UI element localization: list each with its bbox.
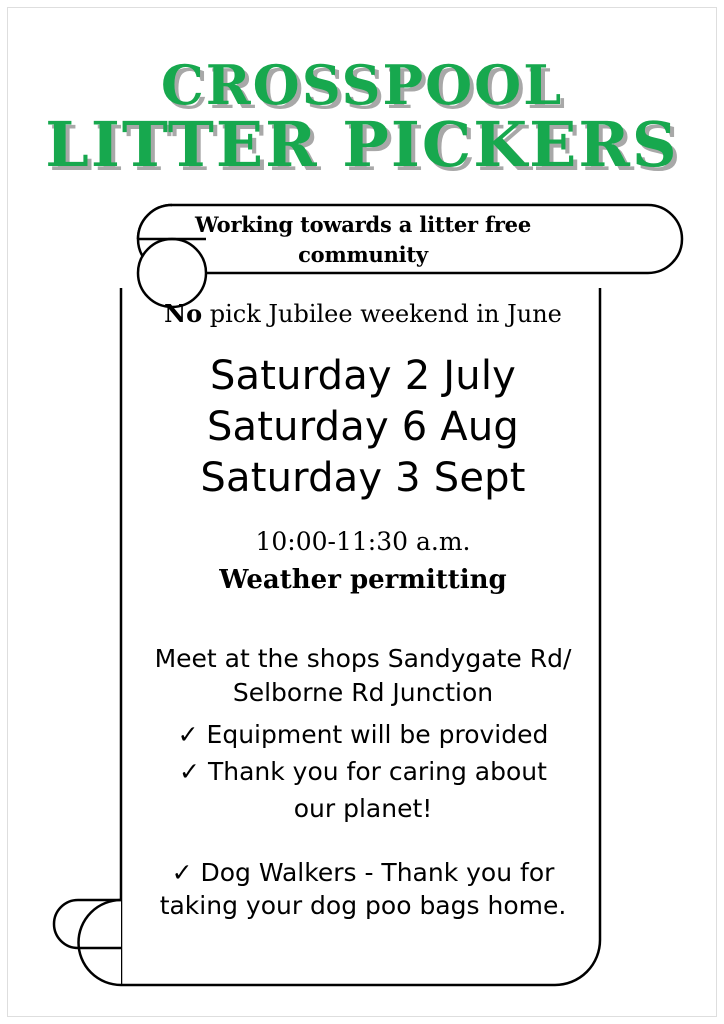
banner-text: Working towards a litter free community — [128, 210, 598, 270]
jubilee-notice: No pick Jubilee weekend in June — [128, 300, 598, 329]
jubilee-notice-rest: pick Jubilee weekend in June — [202, 300, 562, 328]
date-item: Saturday 6 Aug — [128, 402, 598, 453]
bullet-item-text: Equipment will be provided — [207, 720, 549, 749]
scroll-body-text: No pick Jubilee weekend in June Saturday… — [128, 300, 598, 922]
meeting-point-line-2: Selborne Rd Junction — [128, 676, 598, 710]
poster-title: CROSSPOOL LITTER PICKERS — [0, 58, 724, 176]
dog-walkers-line-2: taking your dog poo bags home. — [128, 890, 598, 923]
scroll-content: Working towards a litter free community … — [128, 200, 598, 990]
date-list: Saturday 2 July Saturday 6 Aug Saturday … — [128, 351, 598, 505]
banner-line-1: Working towards a litter free — [128, 210, 598, 240]
dog-walkers-text: Dog Walkers - Thank you for — [201, 858, 555, 887]
check-icon: ✓ — [178, 720, 199, 749]
weather-note: Weather permitting — [128, 564, 598, 597]
scroll-bottom-curl-outer — [79, 900, 121, 985]
date-item: Saturday 3 Sept — [128, 453, 598, 504]
meeting-point: Meet at the shops Sandygate Rd/ Selborne… — [128, 642, 598, 710]
bullet-list: ✓ Equipment will be provided ✓ Thank you… — [128, 716, 598, 827]
check-icon: ✓ — [172, 858, 193, 887]
bullet-item-text: Thank you for caring about — [208, 757, 547, 786]
jubilee-notice-bold: No — [164, 299, 202, 328]
bullet-item-continuation: our planet! — [128, 790, 598, 827]
poster-root: CROSSPOOL LITTER PICKERS Working towards… — [0, 0, 724, 1024]
bullet-item: ✓ Equipment will be provided — [128, 716, 598, 753]
title-line-1: CROSSPOOL — [0, 58, 724, 113]
date-item: Saturday 2 July — [128, 351, 598, 402]
event-time: 10:00-11:30 a.m. — [128, 526, 598, 557]
dog-walkers-line-1: ✓ Dog Walkers - Thank you for — [128, 857, 598, 890]
bullet-item: ✓ Thank you for caring about — [128, 753, 598, 790]
scroll-bottom-curl-inner — [54, 900, 121, 948]
dog-walkers-note: ✓ Dog Walkers - Thank you for taking you… — [128, 857, 598, 922]
banner-line-2: community — [128, 240, 598, 270]
title-line-2: LITTER PICKERS — [0, 113, 724, 176]
check-icon: ✓ — [179, 757, 200, 786]
meeting-point-line-1: Meet at the shops Sandygate Rd/ — [128, 642, 598, 676]
